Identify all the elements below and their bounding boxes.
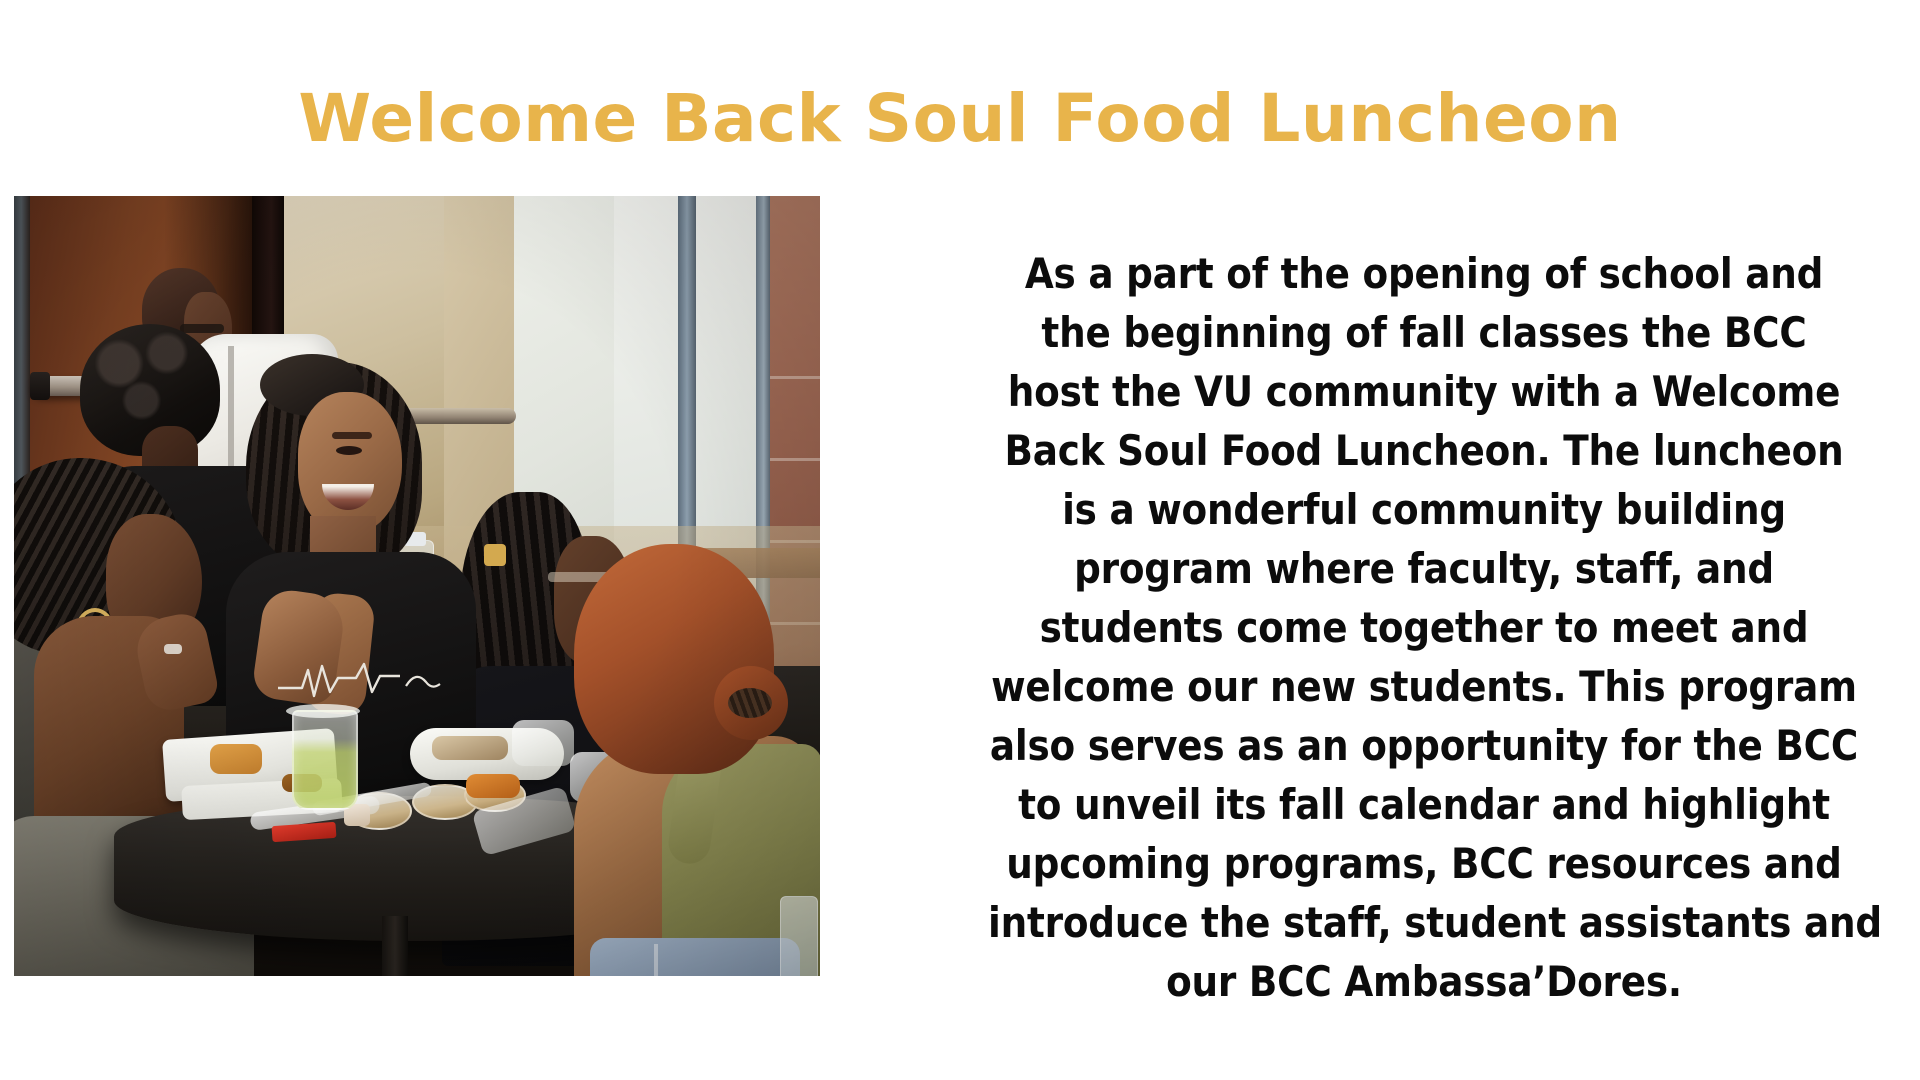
smiling-woman-face	[298, 392, 402, 534]
slide-canvas: Welcome Back Soul Food Luncheon	[0, 0, 1920, 1080]
wall-rail-end-cap	[30, 372, 50, 400]
paragraph-line: upcoming programs, BCC resources and	[988, 834, 1860, 893]
denim-seam	[654, 944, 658, 976]
brick-mortar-line	[766, 376, 820, 379]
paragraph-line: students come together to meet and	[988, 598, 1860, 657]
paragraph-line: program where faculty, staff, and	[988, 539, 1860, 598]
paragraph-line: As a part of the opening of school and	[988, 244, 1860, 303]
plated-food	[432, 736, 508, 760]
luncheon-photo: ction ⚓ ssion ⚓ VU	[14, 196, 820, 976]
paragraph-line: host the VU community with a Welcome	[988, 362, 1860, 421]
food-portion	[466, 774, 520, 798]
cup-rim	[286, 704, 360, 718]
paragraph-line: introduce the staff, student assistants …	[988, 893, 1860, 952]
page-title: Welcome Back Soul Food Luncheon	[0, 82, 1920, 156]
paragraph-line: is a wonderful community building	[988, 480, 1860, 539]
paragraph-line: Back Soul Food Luncheon. The luncheon	[988, 421, 1860, 480]
paragraph-line: our BCC Ambassa’Dores.	[988, 952, 1860, 1011]
paragraph-line: to unveil its fall calendar and highligh…	[988, 775, 1860, 834]
water-bottle	[780, 896, 818, 976]
standing-man-glasses	[180, 324, 224, 333]
heartbeat-graphic	[276, 658, 446, 702]
eye	[336, 446, 362, 455]
paragraph-line: the beginning of fall classes the BCC	[988, 303, 1860, 362]
table-pedestal	[382, 916, 408, 976]
photo-illustration: ction ⚓ ssion ⚓ VU	[14, 196, 820, 976]
lemonade-cup	[292, 710, 358, 810]
fried-food-portion	[210, 744, 262, 774]
paragraph-line: welcome our new students. This program	[988, 657, 1860, 716]
paragraph-line: also serves as an opportunity for the BC…	[988, 716, 1860, 775]
denim-shorts	[590, 938, 800, 976]
plastic-wrap	[512, 720, 574, 766]
eyebrow	[332, 432, 372, 439]
finger-ring	[164, 644, 182, 654]
hair-clip	[484, 544, 506, 566]
hair-tie	[728, 688, 772, 718]
description-paragraph: As a part of the opening of school and t…	[988, 244, 1860, 1011]
brick-mortar-line	[766, 458, 820, 461]
